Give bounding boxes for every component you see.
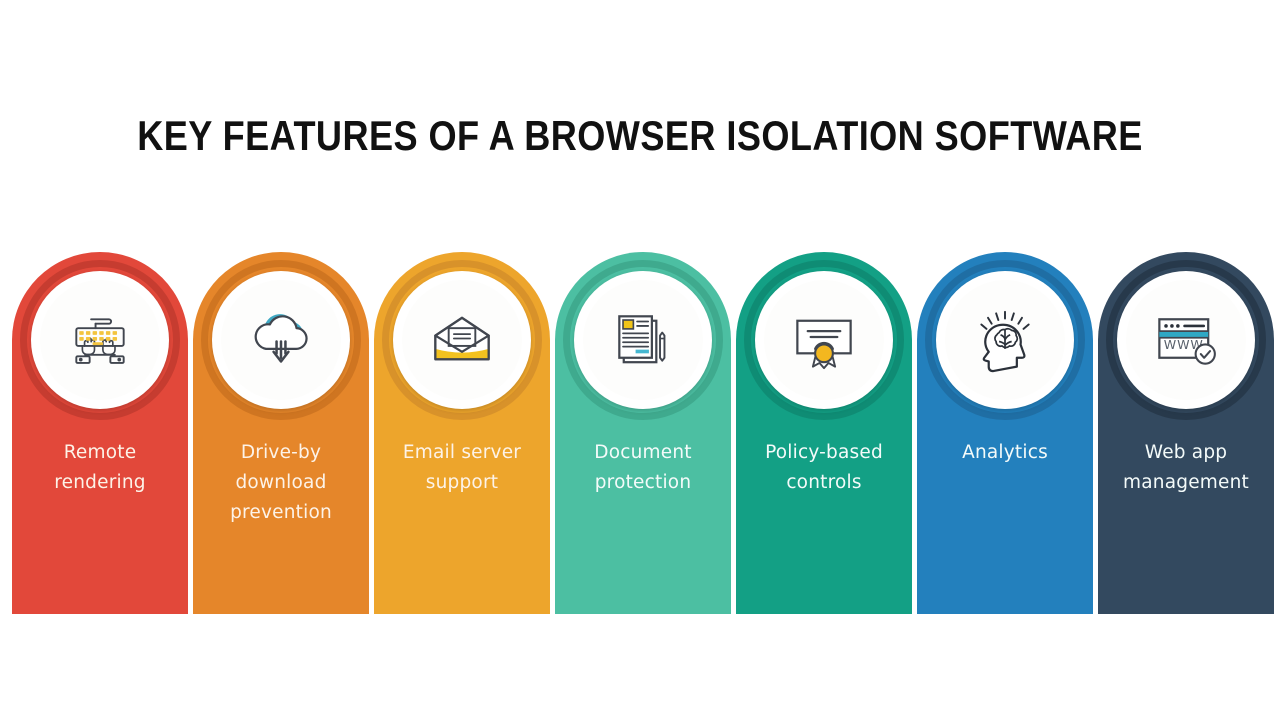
feature-card-drive-by-download-prevention[interactable]: Drive-by download prevention (193, 252, 369, 614)
feature-card-email-server-support[interactable]: Email server support (374, 252, 550, 614)
feature-card-policy-based-controls[interactable]: Policy-based controls (736, 252, 912, 614)
feature-card-label: Document protection (561, 438, 725, 498)
feature-card-label: Email server support (380, 438, 544, 498)
feature-card-label: Drive-by download prevention (199, 438, 363, 528)
feature-card-label: Remote rendering (18, 438, 182, 498)
browser-www-check-icon: WWW (1126, 280, 1246, 400)
infographic-canvas: KEY FEATURES OF A BROWSER ISOLATION SOFT… (0, 0, 1280, 720)
feature-card-label: Analytics (923, 438, 1087, 468)
icon-plate (574, 271, 712, 409)
cloud-download-icon (221, 280, 341, 400)
icon-plate (393, 271, 531, 409)
open-envelope-icon (402, 280, 522, 400)
feature-card-analytics[interactable]: Analytics (917, 252, 1093, 614)
feature-card-row: Remote rendering Drive-by downlo (12, 252, 1268, 614)
documents-pen-icon (583, 280, 703, 400)
feature-card-remote-rendering[interactable]: Remote rendering (12, 252, 188, 614)
keyboard-hands-icon (40, 280, 160, 400)
icon-plate (936, 271, 1074, 409)
icon-plate (755, 271, 893, 409)
certificate-seal-icon (764, 280, 884, 400)
feature-card-web-app-management[interactable]: WWW Web app management (1098, 252, 1274, 614)
page-title: KEY FEATURES OF A BROWSER ISOLATION SOFT… (90, 112, 1191, 160)
icon-plate (212, 271, 350, 409)
icon-plate (31, 271, 169, 409)
feature-card-label: Policy-based controls (742, 438, 906, 498)
head-brain-icon (945, 280, 1065, 400)
feature-card-document-protection[interactable]: Document protection (555, 252, 731, 614)
feature-card-label: Web app management (1104, 438, 1268, 498)
icon-plate: WWW (1117, 271, 1255, 409)
